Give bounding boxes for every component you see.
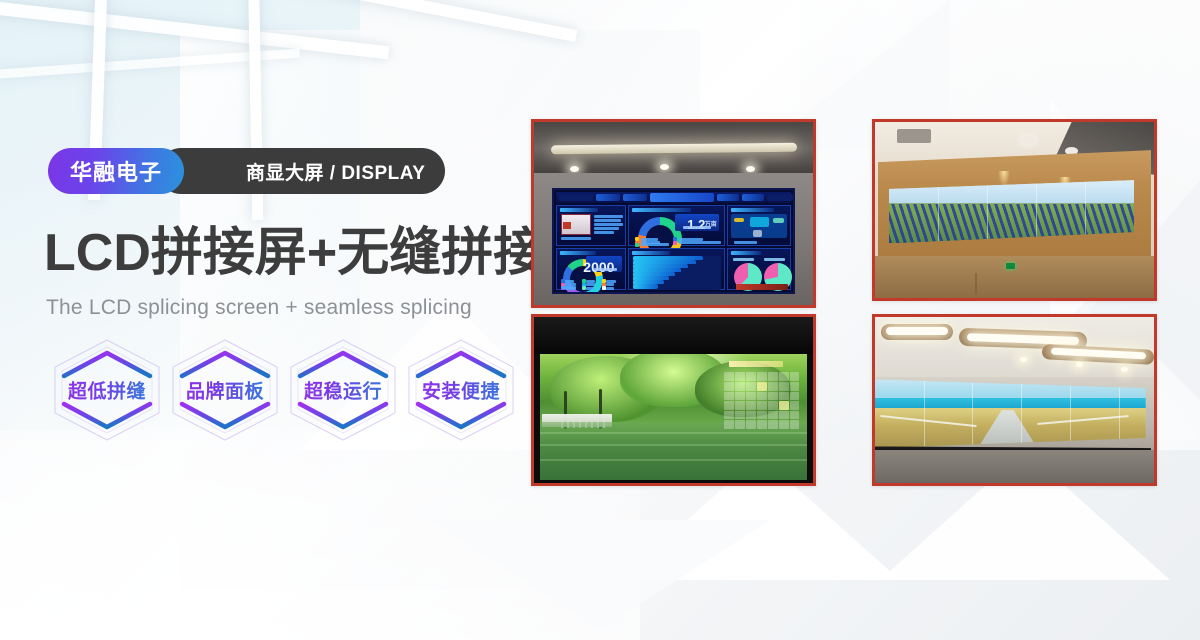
gallery-photo-willow-lake-video-wall xyxy=(531,314,816,486)
exit-sign-icon xyxy=(1006,263,1015,269)
page-title: LCD拼接屏+无缝拼接 xyxy=(44,224,545,282)
gallery-photo-dashboard-video-wall: 1.2 万亩 xyxy=(531,119,816,308)
banner-copy-block: 商显大屏 / DISPLAY 华融电子 LCD拼接屏+无缝拼接 The LCD … xyxy=(0,0,520,640)
brand-badge: 华融电子 xyxy=(48,148,184,194)
feature-hex-row: 超低拼缝 品牌面板 超稳运行 xyxy=(48,336,520,444)
dashboard-big-number-2: 2000 xyxy=(583,259,614,275)
feature-hex-1: 超低拼缝 xyxy=(48,336,166,444)
feature-hex-4: 安装便捷 xyxy=(402,336,520,444)
page-subtitle: The LCD splicing screen + seamless splic… xyxy=(46,296,472,320)
dashboard-big-number-1: 1.2 xyxy=(687,217,705,232)
feature-hex-2: 品牌面板 xyxy=(166,336,284,444)
willow-lake-screen-content xyxy=(540,354,808,480)
calendar-overlay xyxy=(724,361,799,432)
dashboard-screen-content: 1.2 万亩 xyxy=(552,188,795,294)
gallery-photo-solar-farm-video-wall xyxy=(872,119,1157,301)
gallery-photo-beach-boardwalk-video-wall xyxy=(872,314,1157,486)
feature-hex-4-label: 安装便捷 xyxy=(402,377,520,404)
feature-hex-1-label: 超低拼缝 xyxy=(48,377,166,404)
feature-hex-2-label: 品牌面板 xyxy=(166,377,284,404)
feature-hex-3: 超稳运行 xyxy=(284,336,402,444)
feature-hex-3-label: 超稳运行 xyxy=(284,377,402,404)
category-badge: 商显大屏 / DISPLAY xyxy=(158,148,445,194)
